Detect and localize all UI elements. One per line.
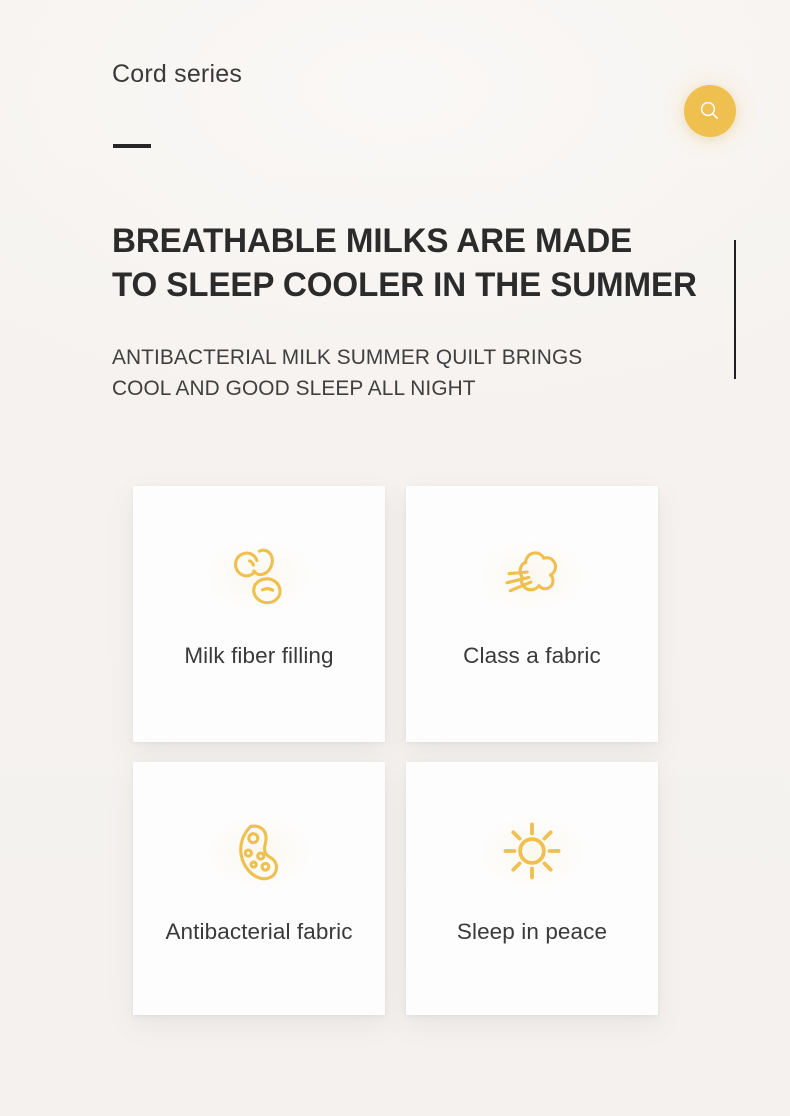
headline-line-1: BREATHABLE MILKS ARE MADE (112, 219, 726, 263)
feature-card-sleep-in-peace[interactable]: Sleep in peace (406, 762, 658, 1015)
page-subtitle: ANTIBACTERIAL MILK SUMMER QUILT BRINGS C… (112, 342, 694, 404)
cloud-breeze-icon (491, 534, 573, 616)
product-feature-page: Cord series BREATHABLE MILKS ARE MADE TO… (0, 0, 790, 1116)
feature-card-class-a-fabric[interactable]: Class a fabric (406, 486, 658, 742)
milk-beans-icon (218, 534, 300, 616)
bacteria-icon (218, 810, 300, 892)
feature-label: Milk fiber filling (184, 642, 333, 669)
subhead-line-2: COOL AND GOOD SLEEP ALL NIGHT (112, 373, 694, 404)
headline-line-2: TO SLEEP COOLER IN THE SUMMER (112, 263, 726, 307)
search-icon (697, 98, 723, 124)
feature-label: Class a fabric (463, 642, 601, 669)
series-label: Cord series (112, 59, 242, 89)
search-button[interactable] (684, 85, 736, 137)
feature-card-antibacterial-fabric[interactable]: Antibacterial fabric (133, 762, 385, 1015)
feature-card-grid: Milk fiber filling Class a fabric (133, 486, 658, 1015)
sun-icon (491, 810, 573, 892)
page-title: BREATHABLE MILKS ARE MADE TO SLEEP COOLE… (112, 219, 726, 307)
vertical-accent-rule (734, 240, 736, 379)
feature-card-milk-fiber-filling[interactable]: Milk fiber filling (133, 486, 385, 742)
feature-label: Sleep in peace (457, 918, 607, 945)
subhead-line-1: ANTIBACTERIAL MILK SUMMER QUILT BRINGS (112, 342, 694, 373)
feature-label: Antibacterial fabric (165, 918, 352, 945)
accent-divider (113, 144, 151, 148)
